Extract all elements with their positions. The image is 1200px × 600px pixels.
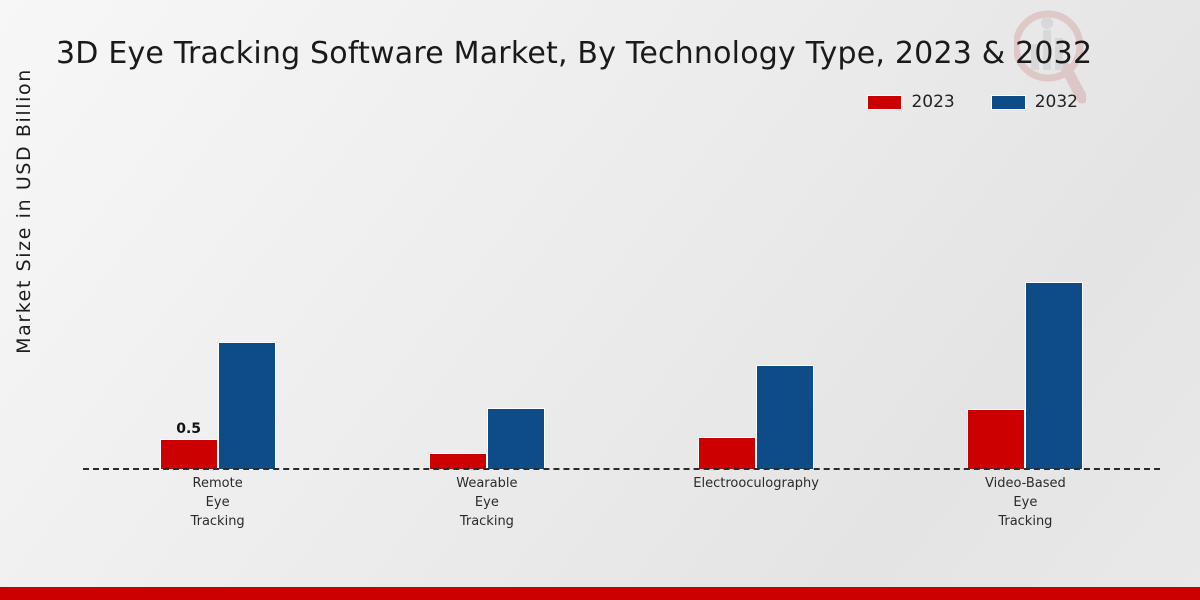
bar-value-2023-remote-eye-tracking: 0.5 bbox=[176, 421, 201, 437]
bar-2023-video-based-eye-tracking[interactable] bbox=[967, 409, 1025, 470]
x-tick-label-wearable-eye-tracking: Wearable Eye Tracking bbox=[352, 474, 621, 531]
bar-wrap-2032-1 bbox=[487, 408, 545, 470]
bar-2032-electrooculography[interactable] bbox=[756, 365, 814, 470]
legend-label-2023: 2023 bbox=[911, 92, 954, 112]
bar-2032-wearable-eye-tracking[interactable] bbox=[487, 408, 545, 470]
x-tick-line: Tracking bbox=[352, 512, 621, 531]
legend-item-2032[interactable]: 2032 bbox=[991, 92, 1078, 112]
bar-groups: 0.5 bbox=[83, 140, 1160, 470]
x-tick-label-video-based-eye-tracking: Video-Based Eye Tracking bbox=[891, 474, 1160, 531]
bar-wrap-2032-2 bbox=[756, 365, 814, 470]
legend-swatch-2023 bbox=[867, 95, 902, 110]
bar-2023-remote-eye-tracking[interactable] bbox=[160, 439, 218, 470]
legend-item-2023[interactable]: 2023 bbox=[867, 92, 954, 112]
x-tick-line: Tracking bbox=[83, 512, 352, 531]
bar-wrap-2032-3 bbox=[1025, 282, 1083, 470]
bar-group-wearable-eye-tracking bbox=[352, 140, 621, 470]
x-tick-line: Eye bbox=[83, 493, 352, 512]
y-axis-title: Market Size in USD Billion bbox=[13, 41, 35, 381]
x-tick-line: Tracking bbox=[891, 512, 1160, 531]
chart-legend: 2023 2032 bbox=[867, 92, 1078, 112]
plot-area: 0.5 bbox=[83, 140, 1160, 470]
bar-group-video-based-eye-tracking bbox=[891, 140, 1160, 470]
bar-2032-video-based-eye-tracking[interactable] bbox=[1025, 282, 1083, 470]
bar-2032-remote-eye-tracking[interactable] bbox=[218, 342, 276, 470]
x-tick-line: Eye bbox=[891, 493, 1160, 512]
x-tick-line: Remote bbox=[83, 474, 352, 493]
bar-group-electrooculography bbox=[622, 140, 891, 470]
bar-wrap-2023-2 bbox=[698, 437, 756, 470]
legend-label-2032: 2032 bbox=[1035, 92, 1078, 112]
chart-figure: 3D Eye Tracking Software Market, By Tech… bbox=[0, 0, 1200, 600]
bar-wrap-2032-0 bbox=[218, 342, 276, 470]
x-tick-line: Video-Based bbox=[891, 474, 1160, 493]
legend-swatch-2032 bbox=[991, 95, 1026, 110]
bottom-accent-bar bbox=[0, 587, 1200, 600]
x-tick-line: Wearable bbox=[352, 474, 621, 493]
bar-wrap-2023-3 bbox=[967, 409, 1025, 470]
x-axis-baseline bbox=[83, 468, 1160, 470]
bar-2023-electrooculography[interactable] bbox=[698, 437, 756, 470]
x-tick-line: Electrooculography bbox=[622, 474, 891, 493]
chart-title: 3D Eye Tracking Software Market, By Tech… bbox=[56, 36, 1116, 71]
bar-wrap-2023-0: 0.5 bbox=[160, 439, 218, 470]
x-tick-label-electrooculography: Electrooculography bbox=[622, 474, 891, 531]
bar-group-remote-eye-tracking: 0.5 bbox=[83, 140, 352, 470]
x-axis-tick-labels: Remote Eye Tracking Wearable Eye Trackin… bbox=[83, 474, 1160, 531]
x-tick-line: Eye bbox=[352, 493, 621, 512]
x-tick-label-remote-eye-tracking: Remote Eye Tracking bbox=[83, 474, 352, 531]
